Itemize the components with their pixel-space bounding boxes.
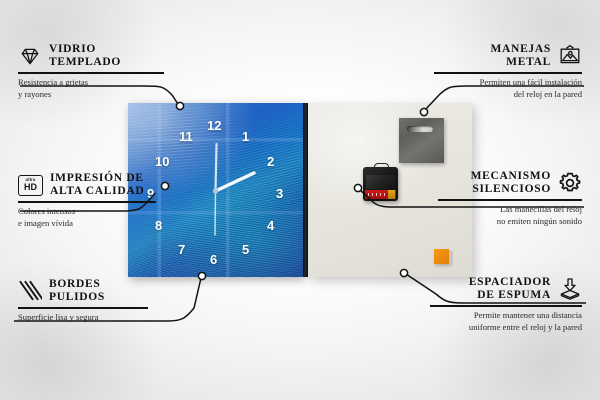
- callout-header: BORDES PULIDOS: [18, 278, 148, 304]
- callout-espaciador-espuma: ESPACIADOR DE ESPUMA Permite mantener un…: [430, 276, 582, 334]
- callout-title-line-1: MECANISMO: [471, 170, 551, 183]
- wire-dot-espaciador: [400, 269, 407, 276]
- callout-rule: [430, 305, 582, 307]
- callout-desc-line-2: del reloj en la pared: [434, 89, 582, 101]
- wire-dot-manejas: [420, 108, 427, 115]
- callout-desc-line-1: Superficie lisa y segura: [18, 312, 148, 324]
- callout-header: VIDRIO TEMPLADO: [18, 43, 164, 69]
- callout-title-line-1: ESPACIADOR: [469, 276, 551, 289]
- wire-dot-bordes: [198, 272, 205, 279]
- callout-rule: [18, 307, 148, 309]
- picture-frame-icon: [558, 44, 582, 68]
- callout-desc-line-1: Las manecillas del reloj: [438, 204, 582, 216]
- callout-rule: [434, 72, 582, 74]
- wire-dot-mecanismo: [354, 184, 361, 191]
- callout-desc-line-1: Permiten una fácil instalación: [434, 77, 582, 89]
- callout-desc-line-1: Colores intensos: [18, 206, 156, 218]
- callout-desc-line-2: y rayones: [18, 89, 164, 101]
- callout-desc-line-1: Permite mantener una distancia: [430, 310, 582, 322]
- callout-header: ESPACIADOR DE ESPUMA: [430, 276, 582, 302]
- callout-title-line-2: DE ESPUMA: [469, 289, 551, 302]
- callout-title-line-2: ALTA CALIDAD: [50, 185, 144, 198]
- callout-header: MANEJAS METAL: [434, 43, 582, 69]
- callout-rule: [438, 199, 582, 201]
- ultra-hd-icon-large-text: HD: [24, 183, 37, 192]
- callout-title-line-1: IMPRESIÓN DE: [50, 172, 144, 185]
- callout-desc-line-2: uniforme entre el reloj y la pared: [430, 322, 582, 334]
- wire-dot-impresion: [161, 182, 168, 189]
- ultra-hd-icon: ultra HD: [18, 175, 43, 196]
- callout-manejas-metal: MANEJAS METAL Permiten una fácil instala…: [434, 43, 582, 101]
- foam-spacer-icon: [558, 277, 582, 301]
- callout-vidrio-templado: VIDRIO TEMPLADO Resistencia a grietas y …: [18, 43, 164, 101]
- callout-title-line-2: SILENCIOSO: [471, 183, 551, 196]
- infographic-canvas: 12 1 2 3 4 5 6 7 8 9 10 11: [0, 0, 600, 400]
- callout-impresion-alta-calidad: ultra HD IMPRESIÓN DE ALTA CALIDAD Color…: [18, 172, 156, 230]
- callout-title-line-2: METAL: [491, 56, 552, 69]
- diamond-icon: [18, 44, 42, 68]
- callout-header: ultra HD IMPRESIÓN DE ALTA CALIDAD: [18, 172, 156, 198]
- callout-rule: [18, 72, 164, 74]
- polished-edges-icon: [18, 279, 42, 303]
- wire-dot-vidrio-templado: [176, 102, 183, 109]
- callout-desc-line-2: no emiten ningún sonido: [438, 216, 582, 228]
- callout-bordes-pulidos: BORDES PULIDOS Superficie lisa y segura: [18, 278, 148, 324]
- callout-header: MECANISMO SILENCIOSO: [438, 170, 582, 196]
- callout-title-line-1: BORDES: [49, 278, 105, 291]
- callout-desc-line-2: e imagen vívida: [18, 218, 156, 230]
- callout-desc-line-1: Resistencia a grietas: [18, 77, 164, 89]
- callout-title-line-1: VIDRIO: [49, 43, 121, 56]
- gear-icon: [558, 171, 582, 195]
- callout-title-line-2: TEMPLADO: [49, 56, 121, 69]
- callout-title-line-2: PULIDOS: [49, 291, 105, 304]
- callout-rule: [18, 201, 156, 203]
- callout-mecanismo-silencioso: MECANISMO SILENCIOSO Las manecillas del …: [438, 170, 582, 228]
- callout-title-line-1: MANEJAS: [491, 43, 552, 56]
